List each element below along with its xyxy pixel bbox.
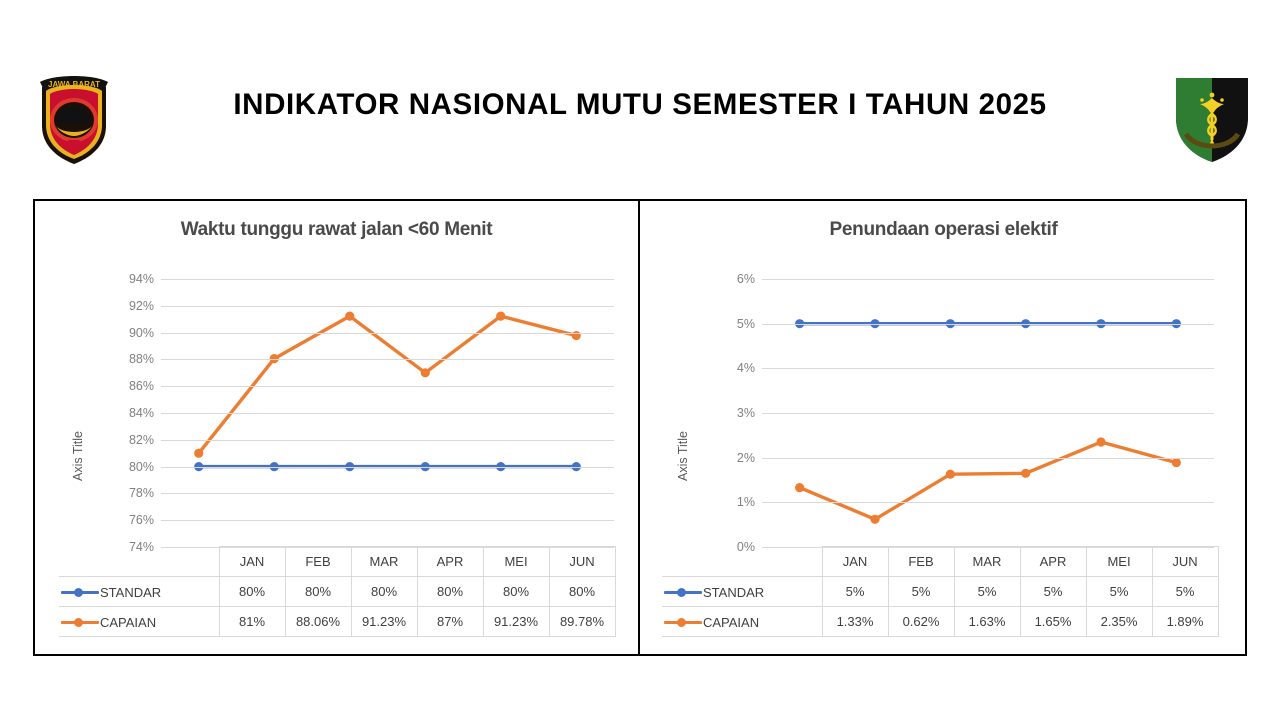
table-column-header: MAR bbox=[351, 547, 417, 577]
gridline bbox=[762, 279, 1214, 280]
gridline bbox=[762, 368, 1214, 369]
y-axis-tick-label: 76% bbox=[129, 513, 154, 527]
series-line-capaian bbox=[800, 442, 1177, 519]
chart-title: Waktu tunggu rawat jalan <60 Menit bbox=[35, 219, 638, 241]
gridline bbox=[161, 467, 614, 468]
table-cell: 80% bbox=[549, 577, 615, 607]
y-axis-tick-label: 2% bbox=[737, 451, 755, 465]
gridline bbox=[161, 279, 614, 280]
table-cell: 5% bbox=[1086, 577, 1152, 607]
health-service-caduceus-emblem-icon bbox=[1168, 70, 1256, 166]
legend-key-standar: STANDAR bbox=[59, 577, 219, 607]
data-point-marker bbox=[946, 470, 955, 479]
table-cell: 1.65% bbox=[1020, 607, 1086, 637]
table-cell: 80% bbox=[285, 577, 351, 607]
slide-header: JAWA BARAT INDIKATOR NASIONAL MUTU SEMES… bbox=[0, 0, 1280, 185]
gridline bbox=[161, 493, 614, 494]
y-axis-tick-label: 94% bbox=[129, 272, 154, 286]
gridline bbox=[161, 440, 614, 441]
page-title: INDIKATOR NASIONAL MUTU SEMESTER I TAHUN… bbox=[140, 88, 1140, 122]
gridline bbox=[762, 502, 1214, 503]
plot-area: 6%5%4%3%2%1%0% bbox=[762, 279, 1214, 547]
y-axis-tick-label: 90% bbox=[129, 326, 154, 340]
chart-panel-penundaan-operasi: Penundaan operasi elektif Axis Title 6%5… bbox=[640, 201, 1247, 654]
gridline bbox=[161, 359, 614, 360]
table-cell: 91.23% bbox=[483, 607, 549, 637]
plot-area: 94%92%90%88%86%84%82%80%78%76%74% bbox=[161, 279, 614, 547]
gridline bbox=[161, 306, 614, 307]
y-axis-title: Axis Title bbox=[676, 431, 690, 481]
data-point-marker bbox=[1172, 458, 1181, 467]
table-header-row: JANFEBMARAPRMEIJUN bbox=[59, 547, 615, 577]
table-cell: 91.23% bbox=[351, 607, 417, 637]
table-row: CAPAIAN81%88.06%91.23%87%91.23%89.78% bbox=[59, 607, 615, 637]
table-column-header: APR bbox=[1020, 547, 1086, 577]
series-line-capaian bbox=[199, 316, 577, 453]
table-row: STANDAR80%80%80%80%80%80% bbox=[59, 577, 615, 607]
charts-container: Waktu tunggu rawat jalan <60 Menit Axis … bbox=[33, 199, 1247, 656]
table-cell: 1.33% bbox=[822, 607, 888, 637]
table-cell: 5% bbox=[822, 577, 888, 607]
gridline bbox=[161, 413, 614, 414]
svg-text:JAWA BARAT: JAWA BARAT bbox=[48, 80, 100, 89]
table-cell: 5% bbox=[954, 577, 1020, 607]
legend-label: STANDAR bbox=[100, 585, 161, 600]
table-cell: 89.78% bbox=[549, 607, 615, 637]
y-axis-tick-label: 92% bbox=[129, 299, 154, 313]
y-axis-tick-label: 84% bbox=[129, 406, 154, 420]
table-column-header: FEB bbox=[888, 547, 954, 577]
table-column-header: FEB bbox=[285, 547, 351, 577]
data-point-marker bbox=[1021, 469, 1030, 478]
table-cell: 80% bbox=[351, 577, 417, 607]
data-point-marker bbox=[194, 449, 203, 458]
table-cell: 81% bbox=[219, 607, 285, 637]
legend-label: STANDAR bbox=[703, 585, 764, 600]
chart-panel-waktu-tunggu: Waktu tunggu rawat jalan <60 Menit Axis … bbox=[35, 201, 638, 654]
table-cell: 88.06% bbox=[285, 607, 351, 637]
y-axis-tick-label: 82% bbox=[129, 433, 154, 447]
table-corner-cell bbox=[662, 547, 822, 577]
table-cell: 5% bbox=[1152, 577, 1218, 607]
table-column-header: JAN bbox=[822, 547, 888, 577]
data-point-marker bbox=[496, 312, 505, 321]
table-column-header: JUN bbox=[1152, 547, 1218, 577]
table-column-header: JUN bbox=[549, 547, 615, 577]
chart-data-table: JANFEBMARAPRMEIJUNSTANDAR5%5%5%5%5%5%CAP… bbox=[662, 546, 1219, 637]
y-axis-tick-label: 5% bbox=[737, 317, 755, 331]
table-cell: 2.35% bbox=[1086, 607, 1152, 637]
gridline bbox=[762, 458, 1214, 459]
y-axis-tick-label: 1% bbox=[737, 495, 755, 509]
table-column-header: MEI bbox=[1086, 547, 1152, 577]
legend-marker-icon bbox=[61, 615, 99, 629]
y-axis-tick-label: 80% bbox=[129, 460, 154, 474]
table-row: CAPAIAN1.33%0.62%1.63%1.65%2.35%1.89% bbox=[662, 607, 1218, 637]
table-cell: 1.63% bbox=[954, 607, 1020, 637]
table-cell: 5% bbox=[1020, 577, 1086, 607]
legend-marker-icon bbox=[664, 615, 702, 629]
gridline bbox=[161, 333, 614, 334]
chart-title: Penundaan operasi elektif bbox=[640, 219, 1247, 241]
table-row: STANDAR5%5%5%5%5%5% bbox=[662, 577, 1218, 607]
legend-key-capaian: CAPAIAN bbox=[59, 607, 219, 637]
y-axis-tick-label: 86% bbox=[129, 379, 154, 393]
table-cell: 80% bbox=[483, 577, 549, 607]
table-cell: 80% bbox=[219, 577, 285, 607]
table-cell: 80% bbox=[417, 577, 483, 607]
y-axis-title: Axis Title bbox=[71, 431, 85, 481]
gridline bbox=[161, 520, 614, 521]
table-cell: 87% bbox=[417, 607, 483, 637]
table-column-header: MEI bbox=[483, 547, 549, 577]
y-axis-tick-label: 4% bbox=[737, 361, 755, 375]
data-point-marker bbox=[870, 515, 879, 524]
table-column-header: JAN bbox=[219, 547, 285, 577]
legend-label: CAPAIAN bbox=[100, 615, 156, 630]
data-point-marker bbox=[1096, 437, 1105, 446]
data-point-marker bbox=[795, 483, 804, 492]
legend-marker-icon bbox=[61, 585, 99, 599]
legend-key-standar: STANDAR bbox=[662, 577, 822, 607]
table-cell: 5% bbox=[888, 577, 954, 607]
table-column-header: MAR bbox=[954, 547, 1020, 577]
table-column-header: APR bbox=[417, 547, 483, 577]
gridline bbox=[161, 386, 614, 387]
y-axis-tick-label: 6% bbox=[737, 272, 755, 286]
y-axis-tick-label: 78% bbox=[129, 486, 154, 500]
table-header-row: JANFEBMARAPRMEIJUN bbox=[662, 547, 1218, 577]
jawa-barat-police-emblem-icon: JAWA BARAT bbox=[28, 68, 120, 168]
table-corner-cell bbox=[59, 547, 219, 577]
chart-data-table: JANFEBMARAPRMEIJUNSTANDAR80%80%80%80%80%… bbox=[59, 546, 616, 637]
data-point-marker bbox=[345, 312, 354, 321]
legend-label: CAPAIAN bbox=[703, 615, 759, 630]
legend-marker-icon bbox=[664, 585, 702, 599]
table-cell: 0.62% bbox=[888, 607, 954, 637]
y-axis-tick-label: 88% bbox=[129, 352, 154, 366]
gridline bbox=[762, 324, 1214, 325]
gridline bbox=[762, 413, 1214, 414]
legend-key-capaian: CAPAIAN bbox=[662, 607, 822, 637]
data-point-marker bbox=[421, 368, 430, 377]
table-cell: 1.89% bbox=[1152, 607, 1218, 637]
y-axis-tick-label: 3% bbox=[737, 406, 755, 420]
